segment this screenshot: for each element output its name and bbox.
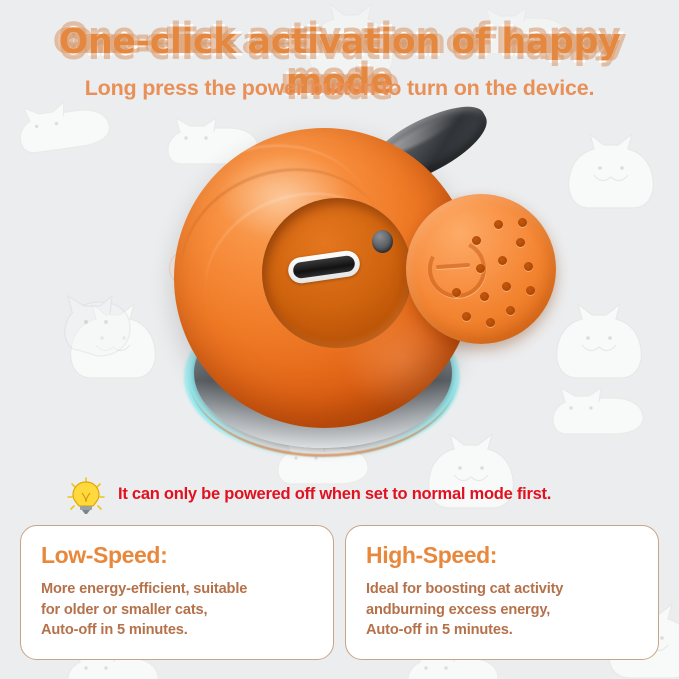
promo-image: One-click activation of happy mode Long … xyxy=(0,0,679,679)
card-low-speed: Low-Speed: More energy-efficient, suitab… xyxy=(20,525,334,660)
tip-text: It can only be powered off when set to n… xyxy=(118,485,551,504)
card-body: Ideal for boosting cat activity andburni… xyxy=(366,579,638,641)
card-title: Low-Speed: xyxy=(41,542,313,569)
led-indicator xyxy=(372,230,393,253)
usb-c-port xyxy=(287,249,362,285)
tip-row: It can only be powered off when set to n… xyxy=(64,476,664,516)
speed-mode-cards: Low-Speed: More energy-efficient, suitab… xyxy=(20,525,659,660)
lightbulb-icon xyxy=(64,476,108,516)
power-button[interactable] xyxy=(406,194,556,344)
port-recess-plate xyxy=(262,198,412,348)
card-high-speed: High-Speed: Ideal for boosting cat activ… xyxy=(345,525,659,660)
page-subtitle: Long press the power button to turn on t… xyxy=(0,76,679,101)
card-body: More energy-efficient, suitable for olde… xyxy=(41,579,313,641)
product-image xyxy=(150,110,590,480)
card-title: High-Speed: xyxy=(366,542,638,569)
